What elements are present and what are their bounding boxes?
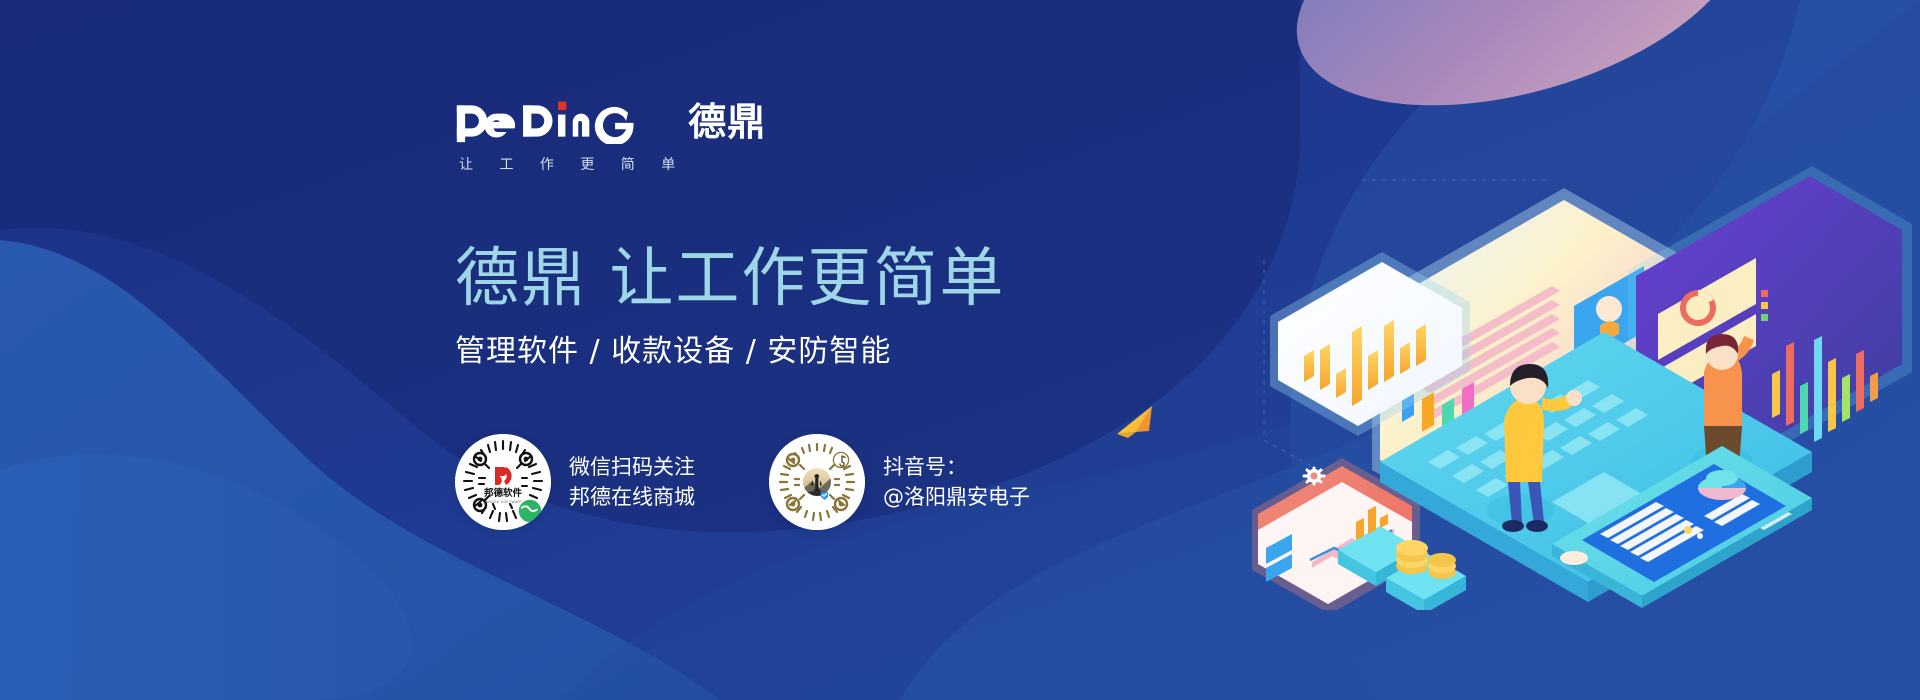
qr-item-wechat[interactable]: 邦德软件 BANGDE SOFTWARE 微信扫码关注 邦德在线商城: [455, 434, 695, 530]
qr-caption-line2: 邦德在线商城: [569, 482, 695, 512]
hero-subheadline: 管理软件 / 收款设备 / 安防智能: [455, 332, 1215, 372]
qr-caption-douyin: 抖音号： @洛阳鼎安电子: [883, 452, 1030, 512]
douyin-qr-icon[interactable]: [769, 434, 865, 530]
music-note-icon: [833, 452, 848, 467]
qr-caption-wechat: 微信扫码关注 邦德在线商城: [569, 452, 695, 512]
logo-chinese-name: 德鼎: [688, 100, 766, 144]
svg-text:BANGDE SOFTWARE: BANGDE SOFTWARE: [483, 500, 523, 504]
deding-wordmark-icon: [455, 98, 672, 144]
qr-code-row: 邦德软件 BANGDE SOFTWARE 微信扫码关注 邦德在线商城: [455, 434, 1215, 530]
qr-caption-line1: 抖音号：: [883, 452, 1030, 482]
wechat-miniprogram-badge-icon: [517, 498, 543, 524]
promo-banner: 德鼎 让 工 作 更 简 单 德鼎 让工作更简单 管理软件 / 收款设备 / 安…: [0, 0, 1920, 700]
svg-text:邦德软件: 邦德软件: [484, 487, 523, 499]
brand-logo[interactable]: 德鼎 让 工 作 更 简 单: [455, 88, 1215, 180]
banner-content: 德鼎 让 工 作 更 简 单 德鼎 让工作更简单 管理软件 / 收款设备 / 安…: [455, 88, 1215, 608]
wechat-miniprogram-qr-icon[interactable]: 邦德软件 BANGDE SOFTWARE: [455, 434, 551, 530]
logo-tagline: 让 工 作 更 简 单: [459, 154, 1215, 174]
qr-caption-line2: @洛阳鼎安电子: [883, 482, 1030, 512]
hero-headline: 德鼎 让工作更简单: [455, 242, 1215, 316]
isometric-data-analytics-illustration: [1252, 110, 1912, 610]
qr-item-douyin[interactable]: 抖音号： @洛阳鼎安电子: [769, 434, 1030, 530]
logo-red-dot-icon: [558, 102, 566, 110]
qr-caption-line1: 微信扫码关注: [569, 452, 695, 482]
